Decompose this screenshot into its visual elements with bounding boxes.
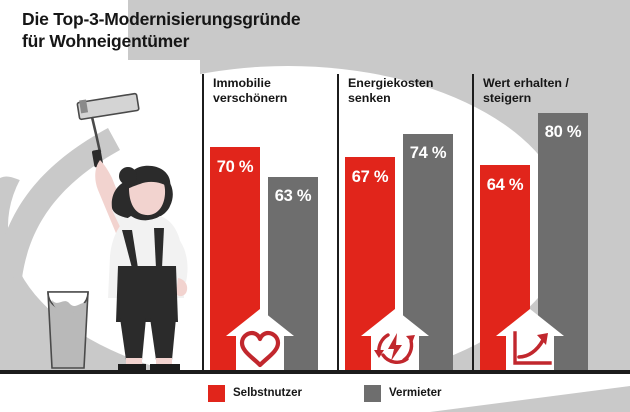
bar-selbstnutzer-3[interactable]: 64 % — [480, 165, 530, 371]
bar-selbstnutzer-2[interactable]: 67 % — [345, 157, 395, 371]
bar-value-label: 70 % — [217, 158, 253, 371]
group-divider-1 — [202, 74, 204, 370]
painter-bun — [119, 167, 137, 185]
bar-value-label: 63 % — [275, 187, 311, 371]
legend-item-selbstnutzer[interactable]: Selbstnutzer — [208, 385, 302, 402]
painter-leg-right — [150, 318, 176, 360]
legend-label-vermieter: Vermieter — [389, 387, 441, 399]
bar-vermieter-3[interactable]: 80 % — [538, 113, 588, 371]
bar-vermieter-2[interactable]: 74 % — [403, 134, 453, 371]
paint-bucket-icon — [48, 292, 88, 368]
legend-item-vermieter[interactable]: Vermieter — [364, 385, 441, 402]
bar-value-label: 64 % — [487, 176, 523, 371]
chart-legend: Selbstnutzer Vermieter — [208, 383, 441, 403]
group-label-3: Wert erhalten / steigern — [483, 76, 569, 106]
infographic-canvas: Die Top-3-Modernisierungsgründe für Wohn… — [0, 0, 630, 412]
painter-leg-left — [120, 318, 146, 360]
chart-baseline — [0, 370, 630, 374]
group-label-1: Immobilie verschönern — [213, 76, 287, 106]
group-wert-erhalten-steigern: Wert erhalten / steigern 64 % 80 % — [472, 74, 604, 371]
bar-value-label: 74 % — [410, 144, 446, 371]
painter-ankle-right — [156, 358, 172, 365]
painter-illustration — [0, 60, 200, 375]
painter-ankle-left — [126, 358, 142, 365]
bar-selbstnutzer-1[interactable]: 70 % — [210, 147, 260, 371]
legend-swatch-red-icon — [208, 385, 225, 402]
group-energiekosten-senken: Energiekosten senken 67 % 74 % — [337, 74, 465, 371]
bar-value-label: 80 % — [545, 123, 581, 371]
legend-label-selbstnutzer: Selbstnutzer — [233, 387, 302, 399]
bar-vermieter-1[interactable]: 63 % — [268, 177, 318, 371]
group-label-2: Energiekosten senken — [348, 76, 433, 106]
bar-value-label: 67 % — [352, 168, 388, 371]
page-title: Die Top-3-Modernisierungsgründe für Wohn… — [22, 8, 300, 53]
group-immobilie-verschoenern: Immobilie verschönern 70 % 63 % — [202, 74, 330, 371]
legend-swatch-gray-icon — [364, 385, 381, 402]
group-divider-2 — [337, 74, 339, 370]
painter-overalls-body — [116, 266, 178, 322]
group-divider-3 — [472, 74, 474, 370]
